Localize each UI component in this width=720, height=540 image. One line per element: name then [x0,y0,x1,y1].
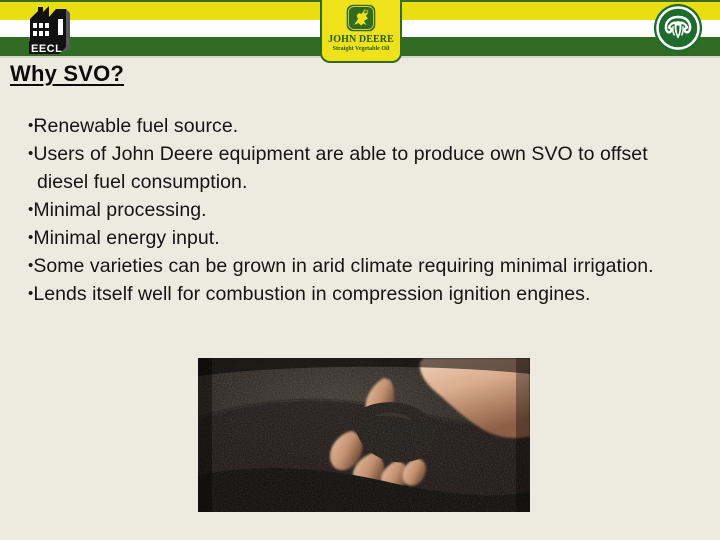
bullet-list: •Renewable fuel source. •Users of John D… [28,112,688,308]
list-item: •Users of John Deere equipment are able … [28,140,688,196]
page-title: Why SVO? [10,61,124,87]
ram-head-icon [654,4,702,52]
john-deere-tagline: Straight Vegetable Oil [322,45,400,53]
list-item-text: Minimal energy input. [33,227,219,249]
list-item-text: Some varieties can be grown in arid clim… [33,255,653,277]
list-item: •Some varieties can be grown in arid cli… [28,252,688,280]
list-item: •Minimal energy input. [28,224,688,252]
slide-why-svo: EECL JOHN DEERE Straight Vegetable Oil [0,0,720,540]
john-deere-wordmark: JOHN DEERE [322,34,400,45]
slide-header-banner: EECL JOHN DEERE Straight Vegetable Oil [0,0,720,56]
list-item: •Lends itself well for combustion in com… [28,280,688,308]
list-item-text: Renewable fuel source. [33,115,238,137]
john-deere-deer-icon [345,3,377,33]
soil-in-hand-photo [198,358,530,512]
svg-text:EECL: EECL [31,43,62,55]
eecl-building-icon: EECL [22,3,74,55]
list-item: •Minimal processing. [28,196,688,224]
eecl-logo: EECL [22,3,74,55]
list-item-text: Lends itself well for combustion in comp… [33,283,590,305]
list-item: •Renewable fuel source. [28,112,688,140]
list-item-text: Minimal processing. [33,199,206,221]
soil-photo-graphic [198,358,530,512]
john-deere-logo: JOHN DEERE Straight Vegetable Oil [320,0,402,63]
csu-ram-logo [654,4,702,52]
list-item-text: Users of John Deere equipment are able t… [33,143,647,193]
